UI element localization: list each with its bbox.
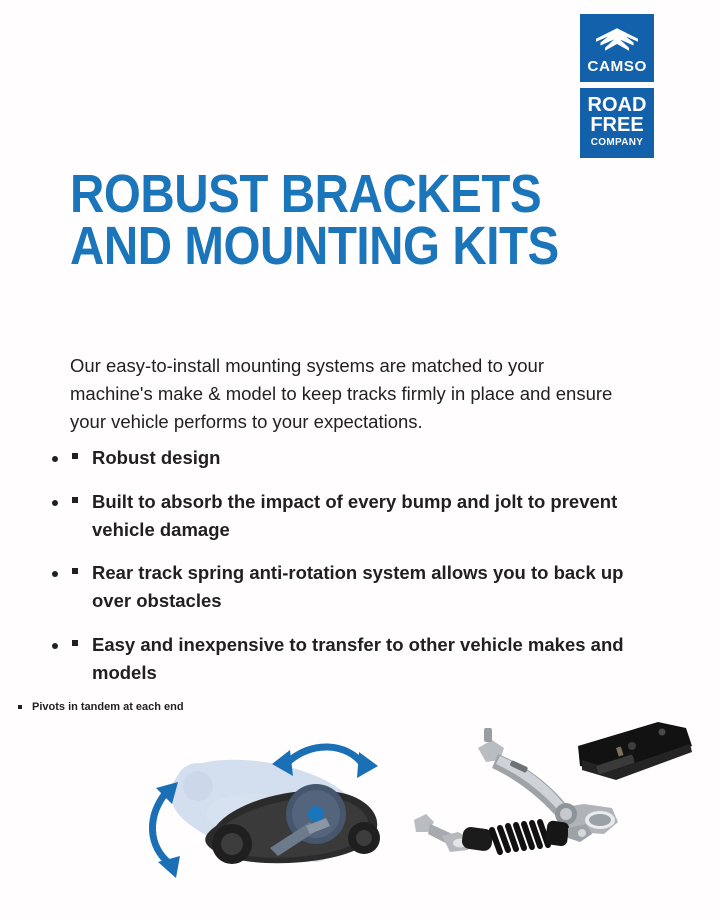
- pivot-arrow-horizontal: [286, 747, 364, 766]
- road-free-company-box: ROAD FREE COMPANY: [578, 86, 656, 160]
- square-bullet-icon: [72, 497, 78, 503]
- square-bullet-icon: [72, 640, 78, 646]
- tagline-company: COMPANY: [591, 137, 643, 149]
- list-item-label: Built to absorb the impact of every bump…: [92, 488, 630, 544]
- arrowhead-right: [357, 752, 378, 778]
- footnote-label: Pivots in tandem at each end: [32, 701, 184, 713]
- mounting-bracket: [578, 722, 692, 780]
- page-title-line-1: ROBUST BRACKETS: [70, 168, 545, 220]
- product-photo-group: [400, 712, 710, 892]
- list-item-label: Robust design: [92, 444, 630, 472]
- list-item-label: Easy and inexpensive to transfer to othe…: [92, 631, 630, 687]
- list-item: Robust design: [70, 444, 630, 472]
- document-page: CAMSO ROAD FREE COMPANY ROBUST BRACKETS …: [0, 0, 720, 920]
- tagline-road: ROAD: [588, 96, 647, 116]
- list-item-label: Rear track spring anti-rotation system a…: [92, 559, 630, 615]
- square-bullet-icon: [72, 568, 78, 574]
- list-item: Rear track spring anti-rotation system a…: [70, 559, 630, 615]
- track-system-pivot-diagram: [120, 722, 410, 892]
- camso-logo-box: CAMSO: [578, 12, 656, 84]
- page-title-line-2: AND MOUNTING KITS: [70, 220, 545, 272]
- brand-logo-stack: CAMSO ROAD FREE COMPANY: [578, 12, 656, 160]
- pivot-arrow-vertical: [152, 790, 170, 864]
- footnote: Pivots in tandem at each end: [18, 700, 184, 714]
- feature-bullet-list: Robust design Built to absorb the impact…: [70, 444, 630, 686]
- list-item: Easy and inexpensive to transfer to othe…: [70, 631, 630, 687]
- tagline-free: FREE: [590, 116, 643, 136]
- square-bullet-icon: [72, 453, 78, 459]
- page-title: ROBUST BRACKETS AND MOUNTING KITS: [70, 168, 545, 273]
- intro-paragraph: Our easy-to-install mounting systems are…: [70, 352, 630, 435]
- camso-wordmark: CAMSO: [587, 59, 647, 74]
- list-item: Built to absorb the impact of every bump…: [70, 488, 630, 544]
- camso-chevron-mark: [593, 26, 641, 56]
- square-bullet-icon: [18, 705, 22, 709]
